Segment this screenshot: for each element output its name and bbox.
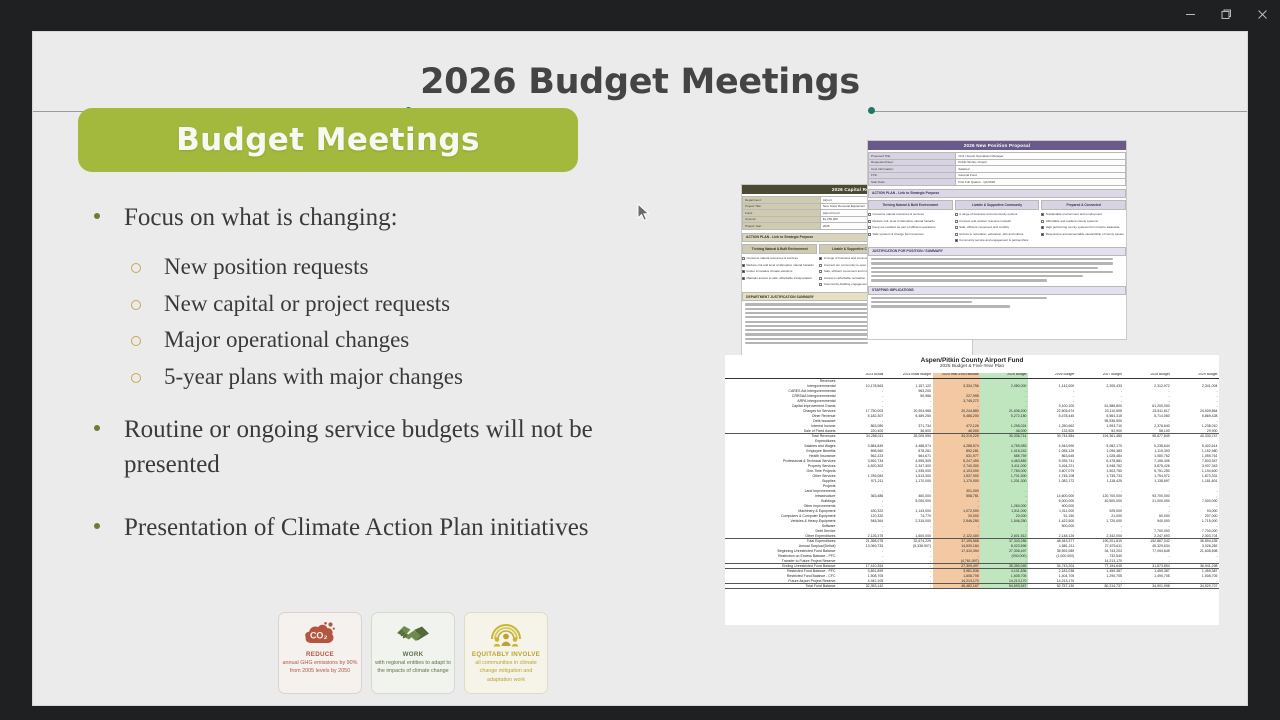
checkbox-icon[interactable] xyxy=(742,257,745,260)
position-form-caption: 2026 New Position Proposal xyxy=(868,141,1126,150)
climate-card-reduce: CO₂ REDUCE annual GHG emissions by 90% f… xyxy=(278,612,362,694)
checkbox-label: Safe, efficient movement and mobility xyxy=(959,226,1009,230)
checkbox-icon[interactable] xyxy=(819,257,822,260)
climate-card-body: all communities in climate change mitiga… xyxy=(465,658,547,684)
fin-cell: 46,482,167 xyxy=(933,583,981,588)
climate-card-body: annual GHG emissions by 90% from 2005 le… xyxy=(279,658,361,676)
minimize-icon[interactable] xyxy=(1172,1,1208,27)
climate-card-heading: REDUCE xyxy=(306,651,334,658)
checkbox-icon[interactable] xyxy=(868,233,871,236)
checkbox-label: A range of business and community option… xyxy=(959,213,1017,217)
climate-action-cards: CO₂ REDUCE annual GHG emissions by 90% f… xyxy=(278,612,548,694)
checkbox-label: Safe systems & change fuel resources xyxy=(873,233,924,237)
strategy-column: Thriving Natural & Built Environment Con… xyxy=(742,244,817,289)
fin-cell: 80,214,737 xyxy=(1076,583,1124,588)
climate-card-heading: EQUITABLY INVOLVE xyxy=(472,651,540,658)
checkbox-label: Maintain access to safe, affordable tran… xyxy=(747,277,812,281)
climate-card-body: with regional entities to adapt to the i… xyxy=(372,658,454,676)
section-banner: Budget Meetings xyxy=(78,108,578,172)
checkbox-row[interactable]: Sustainable environment and employment xyxy=(1041,213,1126,217)
column-heading: Prepared & Connected xyxy=(1041,200,1126,211)
position-form-fields: Proposed Title:Civil / Airport Operation… xyxy=(868,152,1126,186)
position-form-justification-text xyxy=(868,256,1126,282)
checkbox-icon[interactable] xyxy=(955,213,958,216)
airport-fund-table: Aspen/Pitkin County Airport Fund 2025 Bu… xyxy=(725,355,1219,625)
presentation-window: 2026 Budget Meetings Budget Meetings Foc… xyxy=(0,0,1280,720)
checkbox-label: Conserve natural resources & services xyxy=(873,213,925,217)
checkbox-row[interactable]: Conserve natural resources & services xyxy=(868,213,953,217)
new-position-form-thumbnail: 2026 New Position Proposal Proposed Titl… xyxy=(867,140,1127,340)
climate-card-work: WORK with regional entities to adapt to … xyxy=(371,612,455,694)
checkbox-row[interactable]: High performing county systems from loca… xyxy=(1041,226,1126,230)
checkbox-icon[interactable] xyxy=(742,264,745,267)
checkbox-label: Sustainable environment and employment xyxy=(1046,213,1102,217)
checkbox-icon[interactable] xyxy=(1041,226,1044,229)
checkbox-icon[interactable] xyxy=(868,226,871,229)
checkbox-icon[interactable] xyxy=(955,226,958,229)
window-titlebar xyxy=(0,0,1280,28)
checkbox-row[interactable]: Reduce risk, level of disruptive natural… xyxy=(868,220,953,224)
checkbox-label: Connect and outdoor resource network xyxy=(959,220,1011,224)
fin-table-subtitle: 2025 Budget & Five-Year Plan xyxy=(725,364,1219,373)
checkbox-row[interactable]: Conserve natural resources & services xyxy=(742,257,817,261)
fin-table-row: Total Fund Balance32,353,142-46,482,1675… xyxy=(725,583,1219,588)
column-heading: Livable & Supportive Community xyxy=(955,200,1040,211)
field-value: First Full Quarter - Q1/2026 xyxy=(956,179,1126,186)
checkbox-row[interactable]: Community service and engagement & partn… xyxy=(955,239,1040,243)
checkbox-icon[interactable] xyxy=(1041,220,1044,223)
document-thumbnails: 2026 Capital Request Department:Airport … xyxy=(719,72,1219,697)
checkbox-row[interactable]: Responsive and accountable stewardship o… xyxy=(1041,233,1126,237)
checkbox-row[interactable]: Connect and outdoor resource network xyxy=(955,220,1040,224)
checkbox-label: High performing county systems from loca… xyxy=(1046,226,1120,230)
checkbox-label: Keep our resident as part of efficient o… xyxy=(873,226,936,230)
strategy-column: Prepared & Connected Sustainable environ… xyxy=(1041,200,1126,243)
fin-table: 2023 Actual2024 Initial Budget2024 Year-… xyxy=(725,373,1219,589)
bullet-item: Focus on what is changing: xyxy=(81,200,611,235)
checkbox-icon[interactable] xyxy=(955,220,958,223)
svg-text:CO₂: CO₂ xyxy=(310,630,328,640)
sub-bullet-item: New capital or project requests xyxy=(81,288,611,321)
checkbox-icon[interactable] xyxy=(819,270,822,273)
strategy-column: Livable & Supportive Community A range o… xyxy=(955,200,1040,243)
position-form-staffing-text xyxy=(868,295,1126,308)
checkbox-icon[interactable] xyxy=(868,213,871,216)
fin-row-label: Total Fund Balance xyxy=(725,583,837,588)
checkbox-icon[interactable] xyxy=(819,283,822,286)
checkbox-row[interactable]: Affordable and resilient county systems xyxy=(1041,220,1126,224)
checkbox-row[interactable]: Foster innovative climate solutions xyxy=(742,270,817,274)
checkbox-icon[interactable] xyxy=(1041,213,1044,216)
fin-cell: 54,693,947 xyxy=(980,583,1028,588)
community-rainbow-icon xyxy=(488,618,524,650)
bullet-list: Focus on what is changing: New position … xyxy=(81,200,611,547)
checkbox-row[interactable]: Access to recreation, education, arts an… xyxy=(955,233,1040,237)
handshake-icon xyxy=(395,618,431,650)
climate-card-equitably-involve: EQUITABLY INVOLVE all communities in cli… xyxy=(464,612,548,694)
checkbox-label: Conserve natural resources & services xyxy=(747,257,799,261)
table-row: Start Date:First Full Quarter - Q1/2026 xyxy=(869,179,1126,186)
checkbox-label: Access to recreation, education, arts an… xyxy=(959,233,1023,237)
checkbox-icon[interactable] xyxy=(819,264,822,267)
checkbox-icon[interactable] xyxy=(868,220,871,223)
checkbox-row[interactable]: Safe systems & change fuel resources xyxy=(868,233,953,237)
fin-table-title: Aspen/Pitkin County Airport Fund xyxy=(725,355,1219,364)
checkbox-icon[interactable] xyxy=(742,270,745,273)
restore-icon[interactable] xyxy=(1208,1,1244,27)
field-label: Start Date: xyxy=(869,179,956,186)
checkbox-icon[interactable] xyxy=(819,277,822,280)
checkbox-icon[interactable] xyxy=(1041,233,1044,236)
strategy-column: Thriving Natural & Built Environment Con… xyxy=(868,200,953,243)
sub-bullet-item: New position requests xyxy=(81,251,611,284)
fin-cell: 32,353,142 xyxy=(837,583,885,588)
field-label: Project Year: xyxy=(743,223,821,230)
checkbox-row[interactable]: A range of business and community option… xyxy=(955,213,1040,217)
checkbox-label: Reduce risk and level of disruptive natu… xyxy=(747,264,814,268)
checkbox-label: Reduce risk, level of disruptive natural… xyxy=(873,220,935,224)
section-banner-label: Budget Meetings xyxy=(176,122,480,158)
position-form-section-bar: ACTION PLAN - Link to Strategic Purpose xyxy=(868,189,1126,198)
checkbox-label: Community service and engagement & partn… xyxy=(959,239,1028,243)
bullet-item: Routine or ongoing service budgets will … xyxy=(81,412,611,482)
fin-cell: 52,757,130 xyxy=(1028,583,1076,588)
checkbox-icon[interactable] xyxy=(742,277,745,280)
climate-card-heading: WORK xyxy=(403,651,424,658)
fin-cell: 34,901,998 xyxy=(1124,583,1172,588)
fin-cell: - xyxy=(885,583,933,588)
mouse-cursor-icon xyxy=(637,203,651,228)
position-form-justification-bar: JUSTIFICATION FOR POSITION / SUMMARY xyxy=(868,247,1126,256)
checkbox-row[interactable]: Keep our resident as part of efficient o… xyxy=(868,226,953,230)
position-form-staffing-bar: STAFFING IMPLICATIONS xyxy=(868,286,1126,295)
sub-bullet-item: Major operational changes xyxy=(81,324,611,357)
co2-cloud-icon: CO₂ xyxy=(303,618,337,650)
checkbox-icon[interactable] xyxy=(955,233,958,236)
column-heading: Thriving Natural & Built Environment xyxy=(868,200,953,211)
checkbox-icon[interactable] xyxy=(955,239,958,242)
column-heading: Thriving Natural & Built Environment xyxy=(742,244,817,255)
checkbox-label: Foster innovative climate solutions xyxy=(747,270,793,274)
sub-bullet-item: 5-year plans with major changes xyxy=(81,361,611,394)
bullet-item: Presentation of Climate Action Plan init… xyxy=(81,510,611,545)
fin-cell: 34,529,707 xyxy=(1171,583,1219,588)
position-form-columns: Thriving Natural & Built Environment Con… xyxy=(868,200,1126,243)
checkbox-label: Responsive and accountable stewardship o… xyxy=(1046,233,1124,237)
checkbox-row[interactable]: Maintain access to safe, affordable tran… xyxy=(742,277,817,281)
checkbox-row[interactable]: Safe, efficient movement and mobility xyxy=(955,226,1040,230)
close-icon[interactable] xyxy=(1244,1,1280,27)
checkbox-row[interactable]: Reduce risk and level of disruptive natu… xyxy=(742,264,817,268)
checkbox-label: Affordable and resilient county systems xyxy=(1046,220,1098,224)
slide-canvas: 2026 Budget Meetings Budget Meetings Foc… xyxy=(33,32,1247,705)
